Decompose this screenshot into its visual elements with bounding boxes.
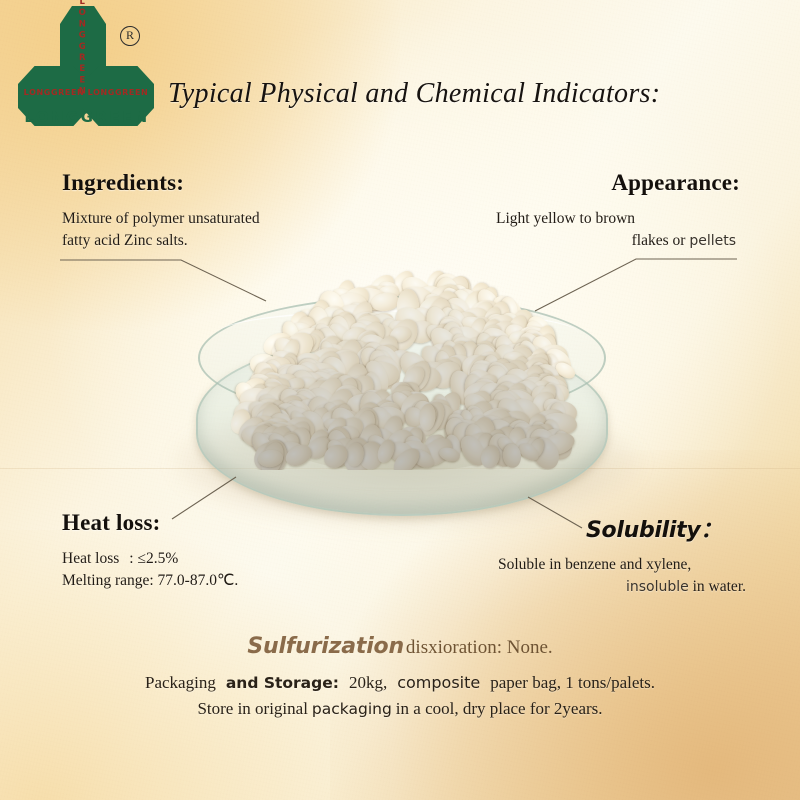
packaging-label: Packaging	[145, 673, 216, 692]
appearance-line-2a: flakes or	[632, 232, 690, 249]
panel-heat-loss: Heat loss: Heat loss: ≤2.5% Melting rang…	[62, 510, 238, 592]
packaging-value-b: composite	[397, 673, 480, 692]
sulfurization-line: Sulfurizationdisxioration: None.	[0, 636, 800, 658]
packaging-value-c: paper bag, 1 tons/palets.	[490, 673, 655, 692]
registered-trademark-icon: R	[120, 26, 140, 46]
heat-loss-line-1a: Heat loss	[62, 550, 119, 567]
heat-loss-line-1: Heat loss: ≤2.5%	[62, 548, 238, 570]
appearance-line-1: Light yellow to brown	[468, 208, 740, 230]
storage-c: in a cool, dry place for 2years.	[396, 699, 603, 718]
panel-ingredients: Ingredients: Mixture of polymer unsatura…	[62, 170, 260, 252]
footer-block: Sulfurizationdisxioration: None. Packagi…	[0, 636, 800, 723]
pellet-pile	[220, 258, 580, 470]
logo-octagon-top-label: LONGGREEN	[72, 7, 92, 87]
longgreen-logo: LONGGREEN LONGGREEN LONGGREEN LONGGREEN …	[8, 4, 158, 130]
infographic-page: LONGGREEN LONGGREEN LONGGREEN LONGGREEN …	[0, 0, 800, 800]
page-title: Typical Physical and Chemical Indicators…	[168, 78, 660, 110]
heat-loss-line-2: Melting range: 77.0-87.0℃.	[62, 570, 238, 592]
sulfurization-rest: disxioration: None.	[406, 637, 553, 658]
appearance-line-2b: pellets	[689, 233, 736, 249]
solubility-line-2a: insoluble	[626, 579, 689, 595]
packaging-line-1: Packagingand Storage:20kg,compositepaper…	[0, 670, 800, 696]
storage-b: packaging	[312, 700, 392, 718]
panel-appearance: Appearance: Light yellow to brown flakes…	[468, 170, 740, 252]
solubility-line-2: insoluble in water.	[498, 576, 748, 598]
panel-solubility: Solubility： Soluble in benzene and xylen…	[498, 512, 748, 598]
appearance-line-2: flakes or pellets	[468, 230, 740, 252]
logo-wordmark: LONGGREEN	[20, 108, 154, 126]
ingredients-line-2: fatty acid Zinc salts.	[62, 230, 260, 252]
petri-dish-photo	[196, 258, 604, 516]
ingredients-heading: Ingredients:	[62, 170, 260, 196]
heat-loss-heading: Heat loss:	[62, 510, 238, 536]
appearance-heading: Appearance:	[468, 170, 740, 196]
storage-a: Store in original	[197, 699, 307, 718]
packaging-bold-label: and Storage:	[226, 674, 339, 692]
solubility-line-1: Soluble in benzene and xylene,	[498, 554, 748, 576]
ingredients-line-1: Mixture of polymer unsaturated	[62, 208, 260, 230]
solubility-heading: Solubility：	[498, 512, 748, 544]
logo-octagon-right-label: LONGGREEN	[82, 88, 154, 97]
solubility-line-2b: in water.	[689, 578, 746, 595]
packaging-line-2: Store in originalpackagingin a cool, dry…	[0, 696, 800, 722]
logo-octagon-left-label: LONGGREEN	[18, 88, 90, 97]
packaging-value-a: 20kg,	[349, 673, 387, 692]
heat-loss-line-1b: : ≤2.5%	[129, 550, 178, 567]
sulfurization-word: Sulfurization	[247, 634, 404, 659]
